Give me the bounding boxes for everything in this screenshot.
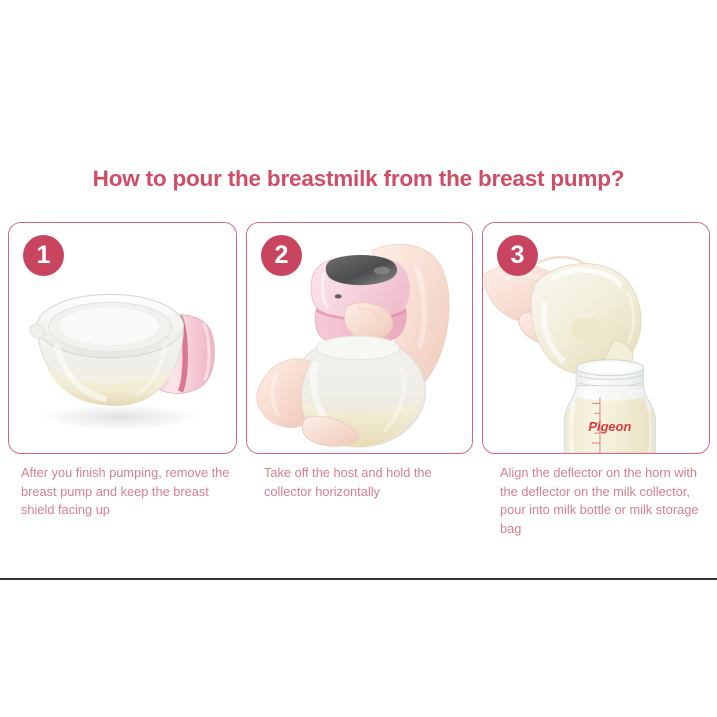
page-title: How to pour the breastmilk from the brea… (0, 166, 717, 192)
infographic-root: How to pour the breastmilk from the brea… (0, 0, 717, 717)
step-number-badge-3: 3 (497, 235, 538, 276)
step-panel-2: 2 (246, 222, 473, 454)
step-caption-3: Align the deflector on the horn with the… (500, 464, 716, 538)
step-panel-1: 1 (8, 222, 237, 454)
step-caption-2: Take off the host and hold the collector… (264, 464, 472, 501)
section-divider (0, 578, 717, 580)
steps-panel-row: 1 (8, 222, 710, 456)
step-number-badge-2: 2 (261, 235, 302, 276)
bottle-brand-label: Pigeon (588, 419, 631, 434)
step-caption-1: After you finish pumping, remove the bre… (21, 464, 233, 520)
step-panel-3: 3 (482, 222, 710, 454)
step-number-badge-1: 1 (23, 235, 64, 276)
steps-caption-row: After you finish pumping, remove the bre… (0, 464, 717, 564)
